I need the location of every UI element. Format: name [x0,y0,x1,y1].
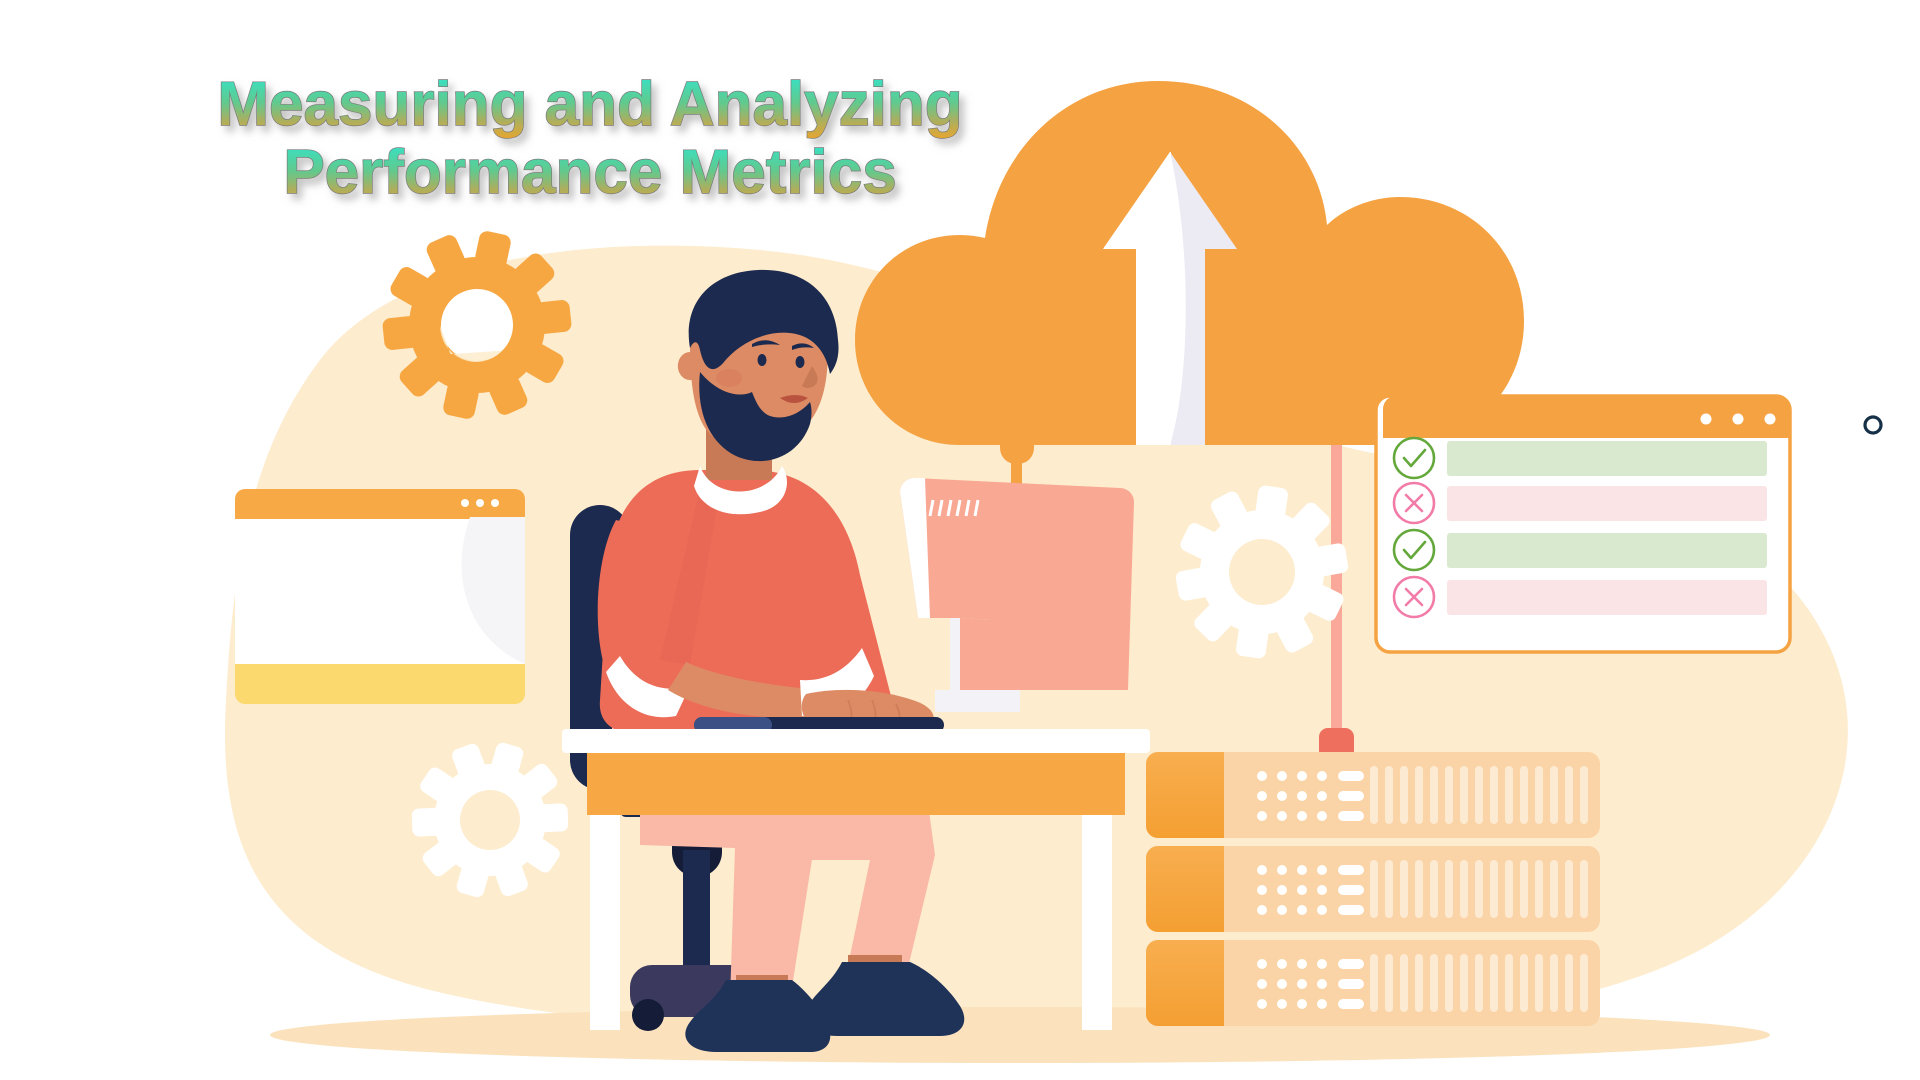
checklist-row[interactable] [1394,438,1767,478]
server-rack-unit[interactable] [1146,940,1600,1026]
left-window-dots [461,499,499,507]
desk-top [562,729,1150,753]
cloud-nub [1000,430,1034,464]
performance-metrics-illustration: Measuring and Analyzing Performance Metr… [0,0,1920,1080]
window-dot [1733,414,1744,425]
monitor-neck [960,618,990,690]
window-dot [461,499,469,507]
checklist-row[interactable] [1394,483,1767,523]
window-dot [1701,414,1712,425]
server-vent-slats [1370,860,1588,918]
person-cheek [716,369,742,387]
illustration-stage: Measuring and Analyzing Performance Metr… [0,0,1920,1080]
page-title: Measuring and Analyzing Performance Metr… [217,70,962,207]
server-rack-unit[interactable] [1146,752,1600,838]
page-title-line-1: Measuring and Analyzing [217,70,962,139]
page-title-line-2: Performance Metrics [283,138,896,207]
checklist-bar [1447,441,1767,476]
server-vent-slats [1370,766,1588,824]
window-dot [491,499,499,507]
checklist-row[interactable] [1394,577,1767,617]
checklist-header [1383,396,1789,438]
checklist-window[interactable] [1376,396,1790,652]
browser-window-blank[interactable] [235,489,525,704]
server-rack-stack[interactable] [1146,752,1600,1026]
person-eye [796,356,805,368]
window-dot [476,499,484,507]
person-eye [758,354,767,366]
checklist-bar [1447,486,1767,521]
desk-apron [587,753,1125,815]
chair-wheel [632,999,664,1031]
server-vent-slats [1370,954,1588,1012]
checklist-bar [1447,580,1767,615]
checklist-row[interactable] [1394,530,1767,570]
server-rack-unit[interactable] [1146,846,1600,932]
checklist-bar [1447,533,1767,568]
window-dot [1765,414,1776,425]
